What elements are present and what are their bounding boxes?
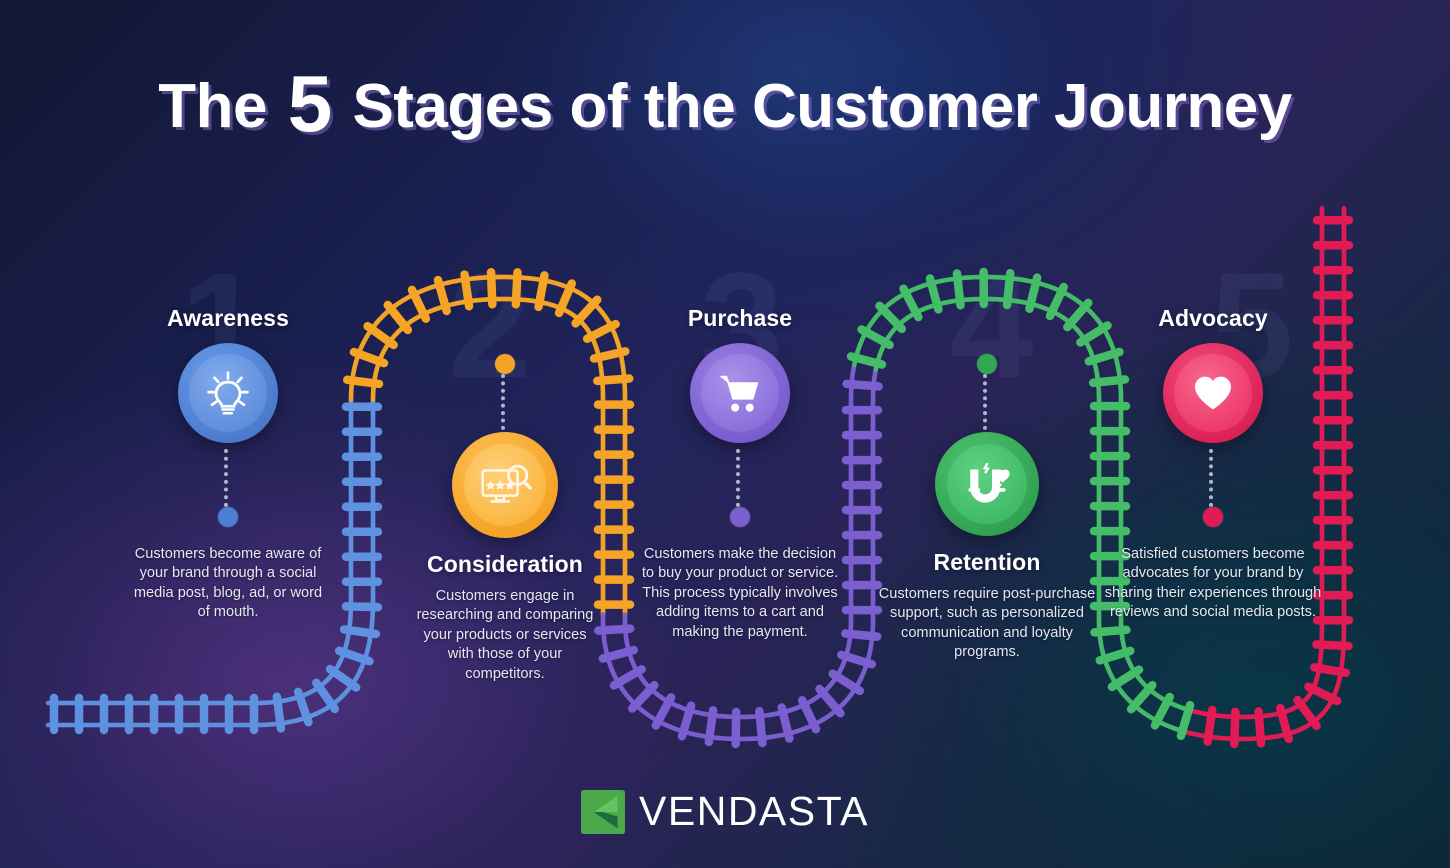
stage-desc-consideration: Customers engage in researching and comp… xyxy=(390,587,620,684)
stage-icon-retention[interactable] xyxy=(935,432,1039,536)
stage-retention[interactable]: Retention Customers require post-purchas… xyxy=(872,354,1102,663)
stage-title-advocacy: Advocacy xyxy=(1098,305,1328,332)
stage-title-consideration: Consideration xyxy=(390,551,620,578)
connector-retention xyxy=(982,354,992,430)
connector-consideration xyxy=(500,354,510,430)
stage-title-retention: Retention xyxy=(872,549,1102,576)
stage-desc-purchase: Customers make the decision to buy your … xyxy=(625,545,855,642)
connector-knob xyxy=(218,507,238,527)
lightbulb-icon xyxy=(178,343,278,443)
stage-desc-advocacy: Satisfied customers become advocates for… xyxy=(1098,545,1328,623)
stage-title-awareness: Awareness xyxy=(113,305,343,332)
stage-advocacy[interactable]: Advocacy Satisfied customers become advo… xyxy=(1098,305,1328,623)
connector-knob xyxy=(730,507,750,527)
connector-knob xyxy=(977,354,997,374)
connector-awareness xyxy=(223,449,233,531)
vendasta-logo-mark xyxy=(581,790,625,834)
shopping-cart-icon xyxy=(690,343,790,443)
stage-title-purchase: Purchase xyxy=(625,305,855,332)
stage-awareness[interactable]: Awareness Customers become aware of xyxy=(113,305,343,623)
footer-logo[interactable]: VENDASTA xyxy=(0,788,1450,835)
stage-purchase[interactable]: Purchase Customers make the decision to … xyxy=(625,305,855,642)
magnet-heart-icon xyxy=(935,432,1039,536)
stage-consideration[interactable]: Consideration Customers engage in resear… xyxy=(390,354,620,684)
footer-brand-name: VENDASTA xyxy=(639,788,869,835)
stage-icon-awareness[interactable] xyxy=(178,343,278,443)
connector-purchase xyxy=(735,449,745,531)
heart-icon xyxy=(1163,343,1263,443)
stage-icon-advocacy[interactable] xyxy=(1163,343,1263,443)
monitor-review-search-icon xyxy=(452,432,558,538)
infographic-canvas: The 5 Stages of the Customer Journey 1 2… xyxy=(0,0,1450,868)
stage-desc-awareness: Customers become aware of your brand thr… xyxy=(113,545,343,623)
stage-icon-purchase[interactable] xyxy=(690,343,790,443)
stage-desc-retention: Customers require post-purchase support,… xyxy=(872,585,1102,663)
stage-icon-consideration[interactable] xyxy=(452,432,558,538)
connector-knob xyxy=(495,354,515,374)
connector-advocacy xyxy=(1208,449,1218,531)
connector-knob xyxy=(1203,507,1223,527)
